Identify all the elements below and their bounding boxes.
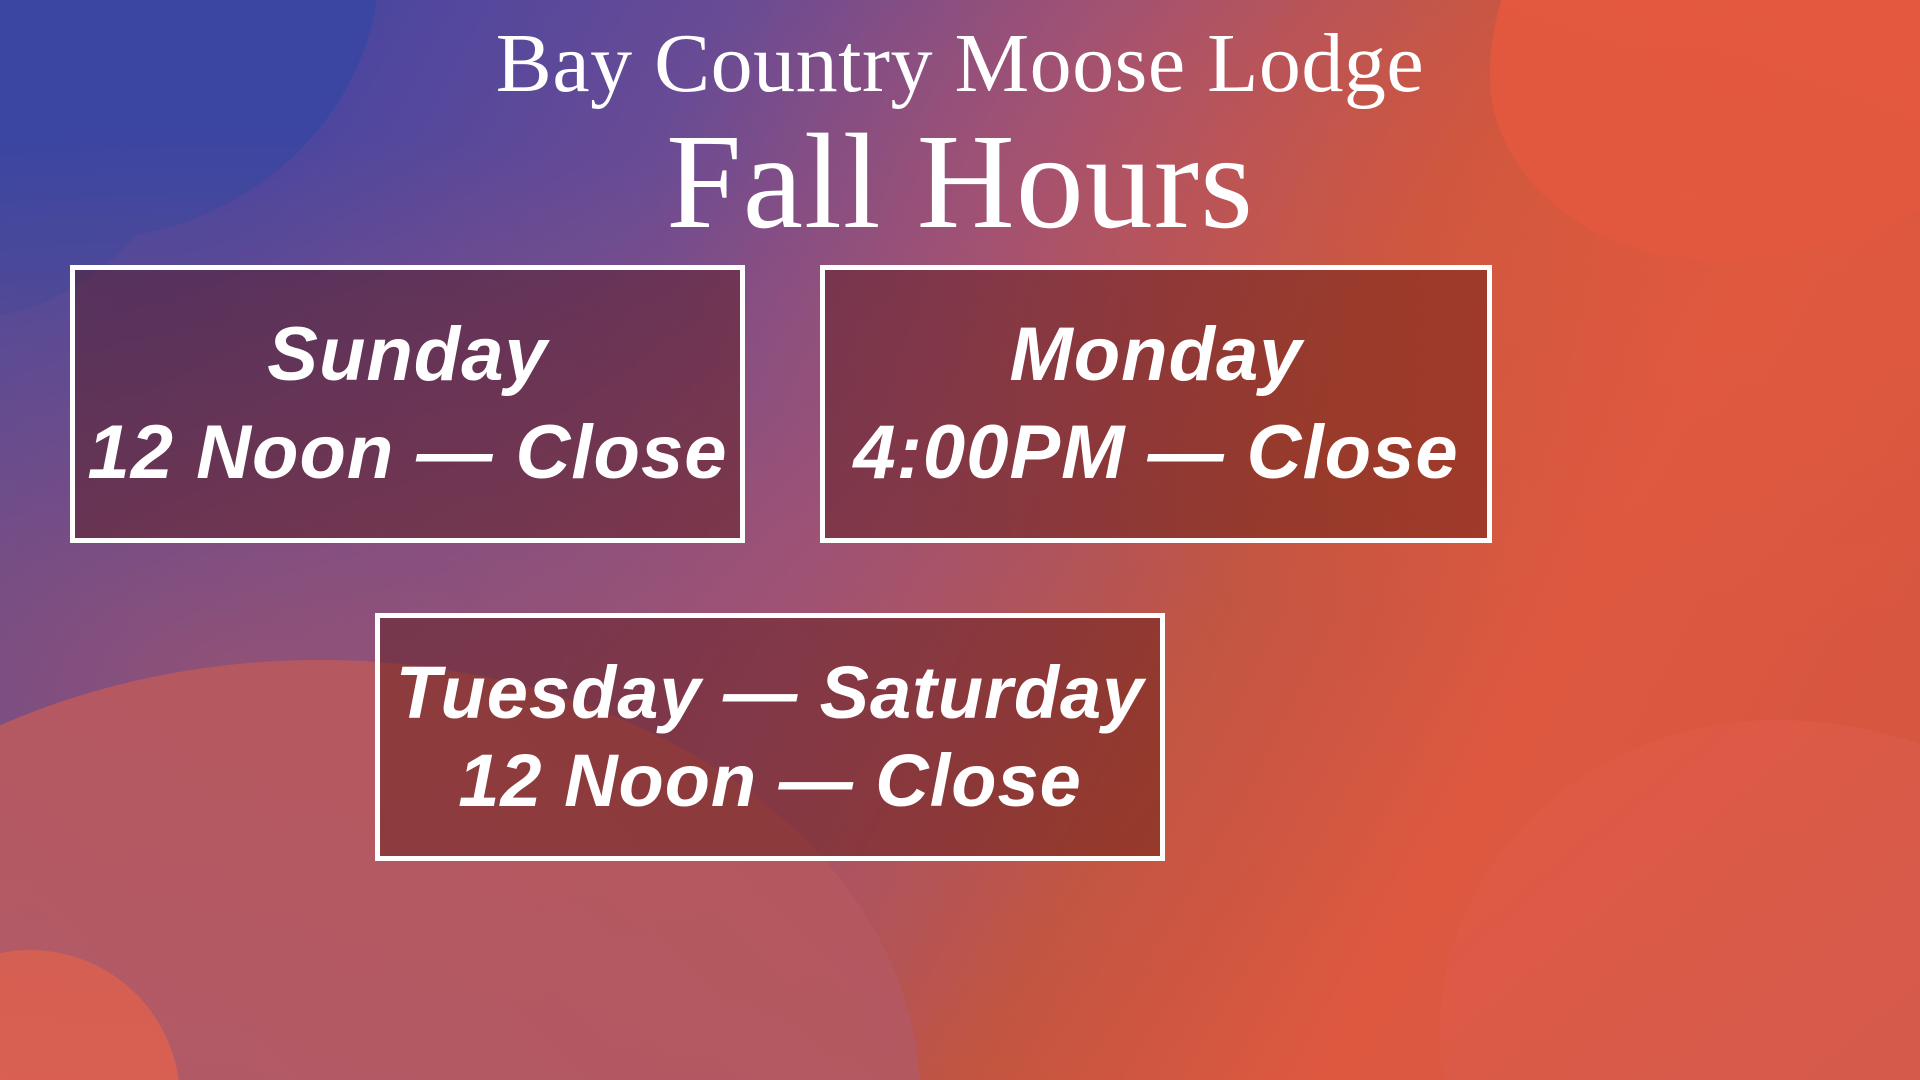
day-label-monday: Monday bbox=[1009, 315, 1302, 395]
day-label-sunday: Sunday bbox=[267, 315, 548, 395]
lodge-name: Bay Country Moose Lodge bbox=[0, 22, 1920, 106]
hours-card-sunday: Sunday 12 Noon — Close bbox=[70, 265, 745, 543]
page-title: Fall Hours bbox=[0, 114, 1920, 250]
hours-value-tuesday-saturday: 12 Noon — Close bbox=[458, 742, 1082, 820]
hours-card-monday: Monday 4:00PM — Close bbox=[820, 265, 1492, 543]
hours-value-sunday: 12 Noon — Close bbox=[88, 413, 728, 493]
day-label-tuesday-saturday: Tuesday — Saturday bbox=[396, 654, 1145, 732]
hours-card-tuesday-saturday: Tuesday — Saturday 12 Noon — Close bbox=[375, 613, 1165, 861]
poster-header: Bay Country Moose Lodge Fall Hours bbox=[0, 0, 1920, 250]
hours-value-monday: 4:00PM — Close bbox=[853, 413, 1458, 493]
